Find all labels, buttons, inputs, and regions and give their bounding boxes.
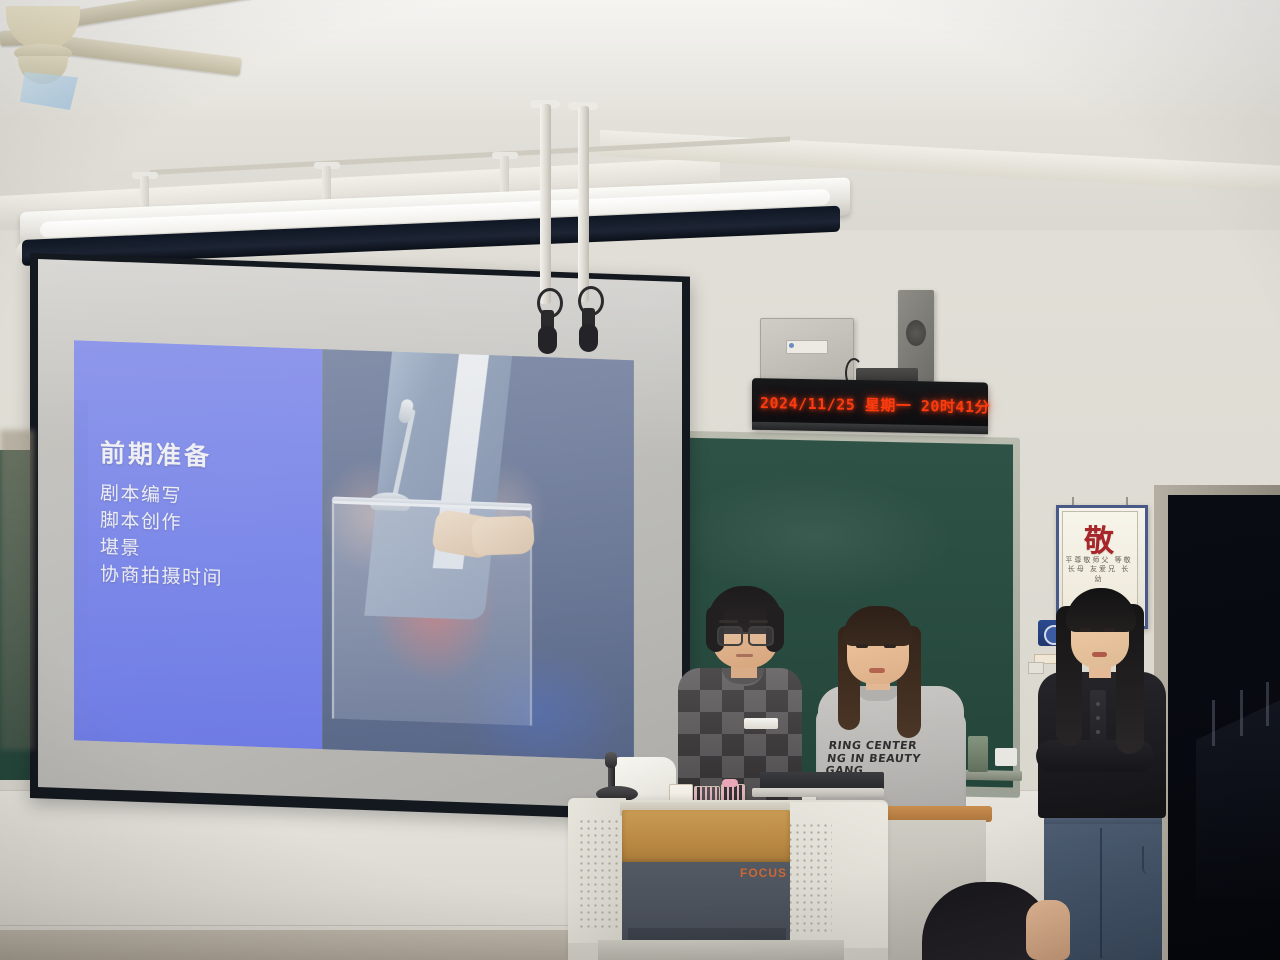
lectern-wood-front <box>622 810 790 864</box>
board-eraser <box>968 736 988 772</box>
laptop-base <box>752 788 884 797</box>
box-cap <box>722 779 738 787</box>
slide-title: 前期准备 <box>100 433 310 477</box>
slide-accent-stripe <box>74 400 88 731</box>
student-right-mouth <box>1092 652 1107 657</box>
railing-post <box>1266 682 1269 726</box>
indicator-light-icon <box>789 343 794 348</box>
glasses-icon <box>748 626 774 646</box>
hanging-mic-pole <box>540 104 551 304</box>
glasses-icon <box>717 626 743 646</box>
projected-slide: 前期准备 剧本编写 脚本创作 堪景 协商拍摄时间 <box>74 340 634 760</box>
button-icon <box>1096 702 1100 706</box>
student-left-eyebrow <box>719 620 738 623</box>
foreground-blur-left <box>0 430 34 750</box>
student-right-eye <box>1104 628 1115 632</box>
jeans-pocket <box>1142 846 1162 874</box>
button-icon <box>1096 730 1100 734</box>
student-left-eyebrow <box>749 620 768 623</box>
poster-subtext: 平尊敬师父 等敬长母 友爱兄 长幼 <box>1064 556 1134 584</box>
glasses-bridge <box>739 632 748 634</box>
student-middle-mouth <box>869 668 885 673</box>
floor <box>0 930 660 960</box>
slide-bullet-list: 剧本编写 脚本创作 堪景 协商拍摄时间 <box>100 481 320 597</box>
chalk-box <box>995 748 1017 766</box>
poster-character: 敬 <box>1062 516 1136 560</box>
student-right-eye <box>1080 628 1091 632</box>
slide-photo <box>322 340 634 760</box>
microphone-icon <box>579 324 598 352</box>
hanging-mic-pole <box>578 106 589 302</box>
student-left-label-patch <box>744 718 778 729</box>
lectern-base <box>598 940 844 960</box>
wall-outlet[interactable] <box>1028 662 1044 674</box>
microphone-icon <box>605 752 617 768</box>
lectern-speaker-grill <box>578 818 618 930</box>
railing-post <box>1212 700 1215 746</box>
railing-post <box>1240 690 1243 736</box>
jeans-seam <box>1100 828 1102 958</box>
speaker-cone-icon <box>906 320 926 346</box>
button-icon <box>1096 716 1100 720</box>
student-middle-eye <box>856 644 868 648</box>
led-clock-text: 2024/11/25 星期一 20时41分 <box>760 392 982 418</box>
classroom-photo: 2024/11/25 星期一 20时41分 敬 平尊敬师父 等敬长母 友爱兄 长… <box>0 0 1280 960</box>
slide-photo-hand <box>471 516 535 556</box>
audience-member-hand <box>1026 900 1070 960</box>
wall-seam-lower <box>0 925 620 926</box>
microphone-icon <box>538 326 557 354</box>
lectern-brand-label: FOCUS <box>740 866 800 880</box>
student-middle-eye <box>884 644 896 648</box>
student-left-mouth <box>736 654 753 657</box>
